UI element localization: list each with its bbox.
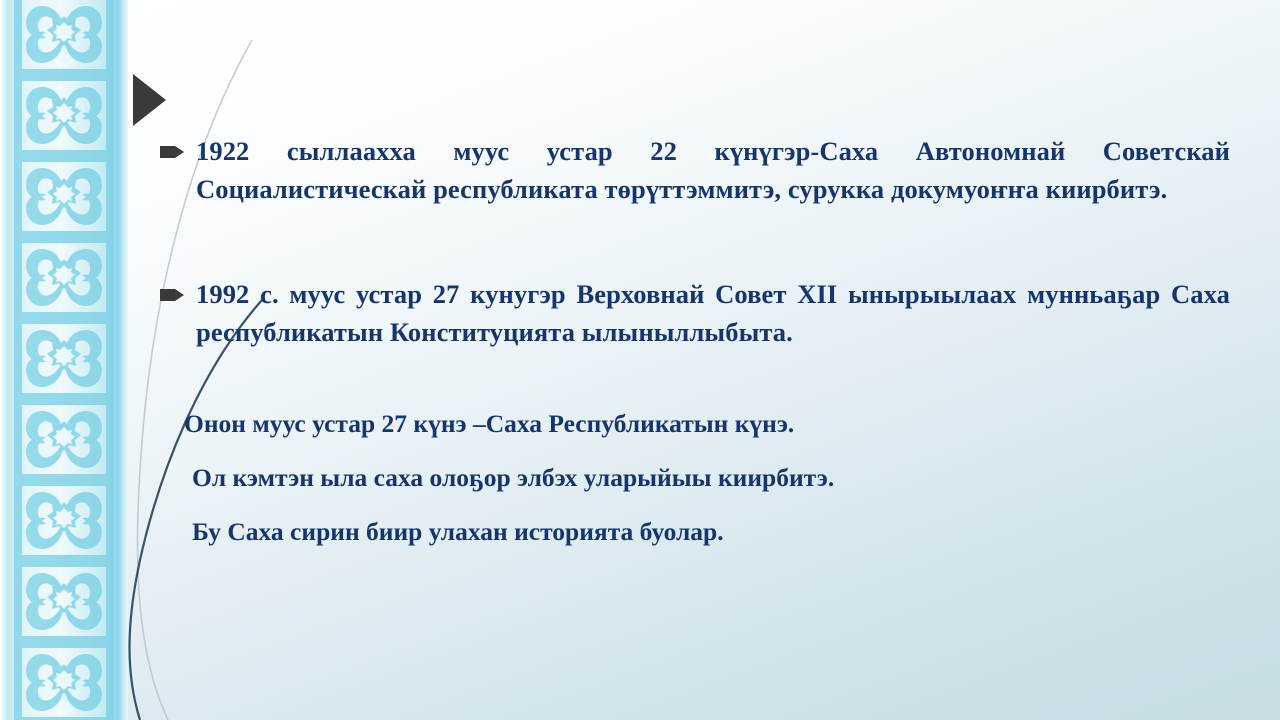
bullet-item: 1922 сыллаахха муус устар 22 күнүгэр-Сах… bbox=[160, 132, 1230, 209]
slide-canvas: 1922 сыллаахха муус устар 22 күнүгэр-Сах… bbox=[0, 0, 1280, 720]
floral-rosette-motif bbox=[14, 75, 114, 156]
triangle-arrow-right-icon bbox=[133, 72, 169, 128]
spacer bbox=[160, 219, 1230, 275]
floral-rosette-motif bbox=[14, 318, 114, 399]
floral-rosette-motif bbox=[14, 399, 114, 480]
slide-content: 1922 сыллаахха муус устар 22 күнүгэр-Сах… bbox=[160, 132, 1230, 568]
band-motif-stack bbox=[14, 0, 114, 720]
floral-rosette-motif bbox=[14, 561, 114, 642]
bullet-text: 1992 с. муус устар 27 кунугэр Верховнай … bbox=[196, 275, 1230, 352]
arrow-bullet-icon bbox=[160, 145, 184, 159]
paragraph-line: Ол кэмтэн ыла саха олоҕор элбэх уларыйыы… bbox=[160, 460, 1230, 496]
arrow-bullet-icon bbox=[160, 288, 184, 302]
floral-rosette-motif bbox=[14, 480, 114, 561]
spacer bbox=[160, 362, 1230, 406]
bullet-item: 1992 с. муус устар 27 кунугэр Верховнай … bbox=[160, 275, 1230, 352]
floral-rosette-motif bbox=[14, 0, 114, 75]
ornamental-side-band bbox=[0, 0, 128, 720]
floral-rosette-motif bbox=[14, 642, 114, 720]
floral-rosette-motif bbox=[14, 237, 114, 318]
paragraph-line: Онон муус устар 27 күнэ –Саха Республика… bbox=[160, 406, 1230, 442]
paragraph-line: Бу Саха сирин биир улахан историята буол… bbox=[160, 514, 1230, 550]
floral-rosette-motif bbox=[14, 156, 114, 237]
bullet-text: 1922 сыллаахха муус устар 22 күнүгэр-Сах… bbox=[196, 132, 1230, 209]
